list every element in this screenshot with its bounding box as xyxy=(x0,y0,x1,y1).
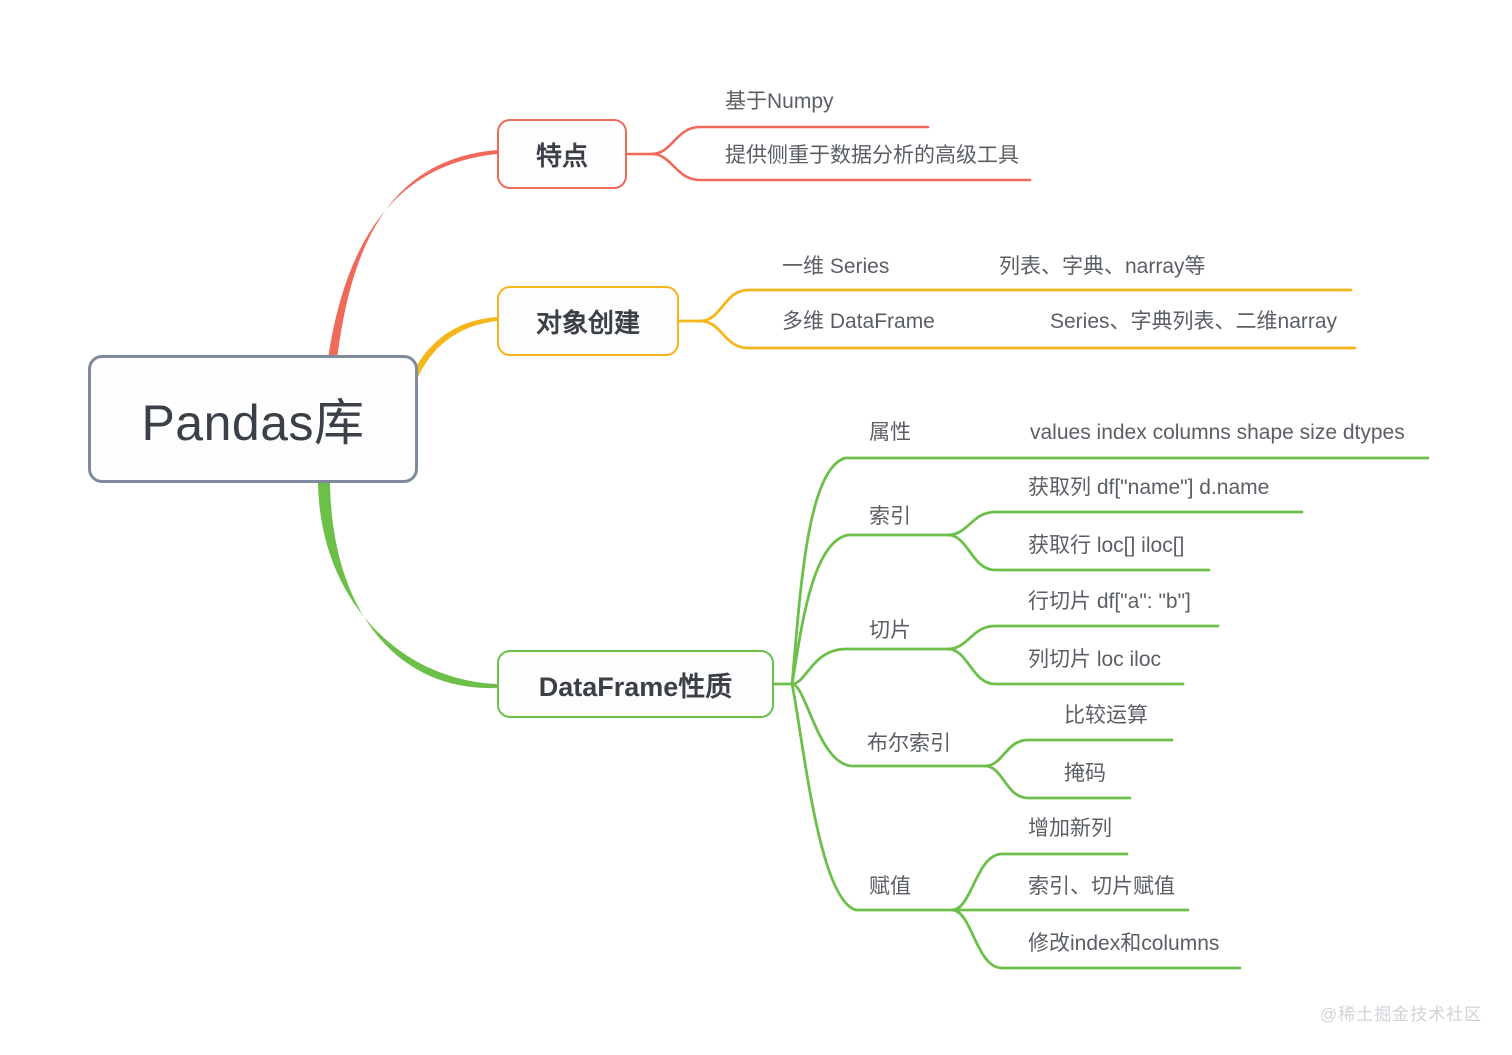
wire-dataframe-child-1 xyxy=(792,535,948,684)
branch-node-dataframe-properties[interactable]: DataFrame性质 xyxy=(497,650,774,718)
leaf-dataframe-slice-label: 切片 xyxy=(869,619,911,642)
leaf-dataframe-attributes-detail[interactable]: values index columns shape size dtypes xyxy=(1030,422,1405,443)
leaf-dataframe-assign-child-0-label: 增加新列 xyxy=(1028,817,1112,840)
mindmap-canvas: Pandas库 特点 对象创建 DataFrame性质 基于Numpy 提供侧重… xyxy=(0,0,1512,1055)
leaf-dataframe-index-label: 索引 xyxy=(869,505,911,528)
leaf-object-creation-0-detail[interactable]: 列表、字典、narray等 xyxy=(999,256,1206,277)
leaf-object-creation-1-detail[interactable]: Series、字典列表、二维narray xyxy=(1050,311,1337,332)
leaf-dataframe-assign-child-2-label: 修改index和columns xyxy=(1028,932,1219,955)
leaf-features-1-label: 提供侧重于数据分析的高级工具 xyxy=(725,144,1019,167)
leaf-dataframe-slice-child-1[interactable]: 列切片 loc iloc xyxy=(1028,649,1161,670)
leaf-object-creation-0[interactable]: 一维 Series xyxy=(782,256,889,277)
leaf-dataframe-boolean-index-child-1[interactable]: 掩码 xyxy=(1064,763,1106,784)
leaf-dataframe-index-child-0[interactable]: 获取列 df["name"] d.name xyxy=(1028,477,1269,498)
wire-slice-leaf-0 xyxy=(948,626,1218,649)
leaf-features-1[interactable]: 提供侧重于数据分析的高级工具 xyxy=(725,145,1019,166)
leaf-dataframe-boolean-index[interactable]: 布尔索引 xyxy=(867,733,951,754)
leaf-dataframe-boolean-index-label: 布尔索引 xyxy=(867,732,951,755)
leaf-dataframe-index[interactable]: 索引 xyxy=(869,506,911,527)
leaf-dataframe-assign-child-2[interactable]: 修改index和columns xyxy=(1028,933,1219,954)
leaf-dataframe-slice-child-0-label: 行切片 df["a": "b"] xyxy=(1028,590,1191,613)
root-node-pandas[interactable]: Pandas库 xyxy=(88,355,418,483)
wire-boolean-index-leaf-1 xyxy=(985,766,1130,798)
root-node-label: Pandas库 xyxy=(141,383,364,455)
wire-dataframe-child-2 xyxy=(792,649,948,684)
leaf-dataframe-assign-label: 赋值 xyxy=(869,875,911,898)
leaf-dataframe-slice-child-1-label: 列切片 loc iloc xyxy=(1028,648,1161,671)
leaf-dataframe-attributes-label: 属性 xyxy=(869,421,911,444)
leaf-object-creation-1-label: 多维 DataFrame xyxy=(782,310,935,333)
leaf-dataframe-boolean-index-child-0-label: 比较运算 xyxy=(1064,704,1148,727)
branch-node-object-creation-label: 对象创建 xyxy=(536,303,640,340)
leaf-object-creation-1-detail-label: Series、字典列表、二维narray xyxy=(1050,310,1337,333)
wire-index-leaf-0 xyxy=(948,512,1302,535)
leaf-features-0-label: 基于Numpy xyxy=(725,90,834,113)
leaf-object-creation-1[interactable]: 多维 DataFrame xyxy=(782,311,935,332)
leaf-object-creation-0-label: 一维 Series xyxy=(782,255,889,278)
leaf-dataframe-assign-child-1[interactable]: 索引、切片赋值 xyxy=(1028,876,1175,897)
wire-root-to-dataframe xyxy=(318,483,497,688)
leaf-dataframe-index-child-1-label: 获取行 loc[] iloc[] xyxy=(1028,534,1184,557)
branch-node-object-creation[interactable]: 对象创建 xyxy=(497,286,679,356)
leaf-object-creation-0-detail-label: 列表、字典、narray等 xyxy=(999,255,1206,278)
leaf-dataframe-index-child-1[interactable]: 获取行 loc[] iloc[] xyxy=(1028,535,1184,556)
leaf-dataframe-slice[interactable]: 切片 xyxy=(869,620,911,641)
leaf-dataframe-assign-child-1-label: 索引、切片赋值 xyxy=(1028,875,1175,898)
leaf-dataframe-slice-child-0[interactable]: 行切片 df["a": "b"] xyxy=(1028,591,1191,612)
leaf-dataframe-attributes-detail-label: values index columns shape size dtypes xyxy=(1030,421,1405,444)
leaf-dataframe-index-child-0-label: 获取列 df["name"] d.name xyxy=(1028,476,1269,499)
branch-node-features[interactable]: 特点 xyxy=(497,119,627,189)
leaf-features-0[interactable]: 基于Numpy xyxy=(725,91,834,112)
watermark-label: @稀土掘金技术社区 xyxy=(1320,1005,1482,1024)
branch-node-features-label: 特点 xyxy=(536,136,588,173)
leaf-dataframe-boolean-index-child-0[interactable]: 比较运算 xyxy=(1064,705,1148,726)
leaf-dataframe-assign-child-0[interactable]: 增加新列 xyxy=(1028,818,1112,839)
leaf-dataframe-assign[interactable]: 赋值 xyxy=(869,876,911,897)
branch-node-dataframe-properties-label: DataFrame性质 xyxy=(539,665,733,704)
leaf-dataframe-boolean-index-child-1-label: 掩码 xyxy=(1064,762,1106,785)
watermark: @稀土掘金技术社区 xyxy=(1320,1000,1482,1025)
leaf-dataframe-attributes[interactable]: 属性 xyxy=(869,422,911,443)
